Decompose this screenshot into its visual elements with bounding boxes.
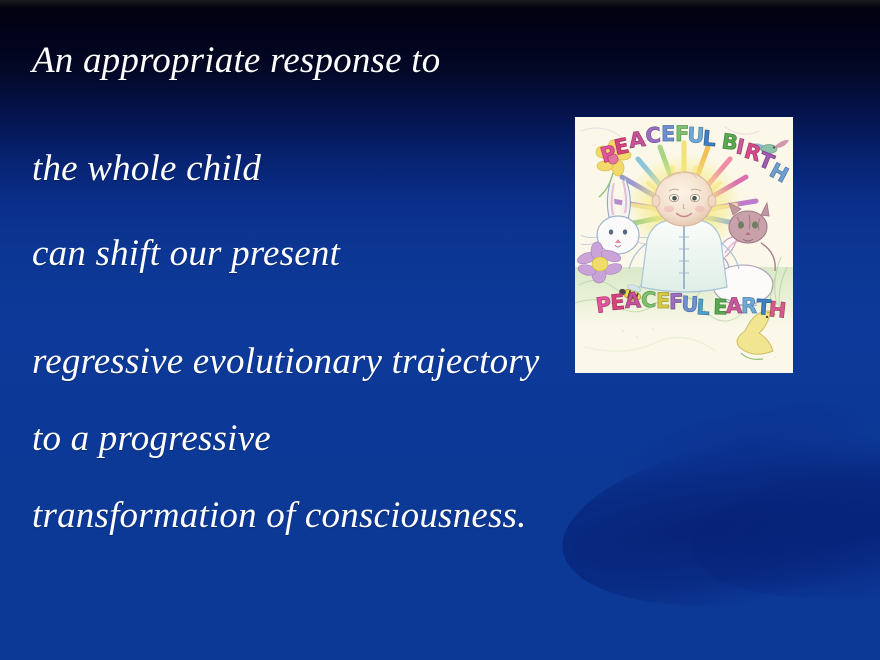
text-line-6: transformation of consciousness.	[32, 497, 822, 534]
svg-text:L: L	[702, 126, 717, 151]
svg-text:E: E	[661, 122, 675, 146]
svg-text:R: R	[741, 294, 757, 318]
svg-text:C: C	[641, 288, 656, 312]
text-line-5: to a progressive	[32, 420, 822, 457]
svg-text:A: A	[624, 288, 642, 313]
slide-image-childrens-drawing: child's colored-pencil drawing of a radi…	[575, 117, 793, 373]
text-line-1: An appropriate response to	[32, 42, 822, 79]
svg-text:C: C	[645, 123, 662, 148]
svg-text:H: H	[767, 297, 787, 323]
drawing-artwork-icon: P E A C E F U L B I R T H P E A C E	[575, 117, 793, 373]
presentation-slide: An appropriate response to the whole chi…	[0, 0, 880, 660]
svg-text:L: L	[696, 295, 711, 320]
